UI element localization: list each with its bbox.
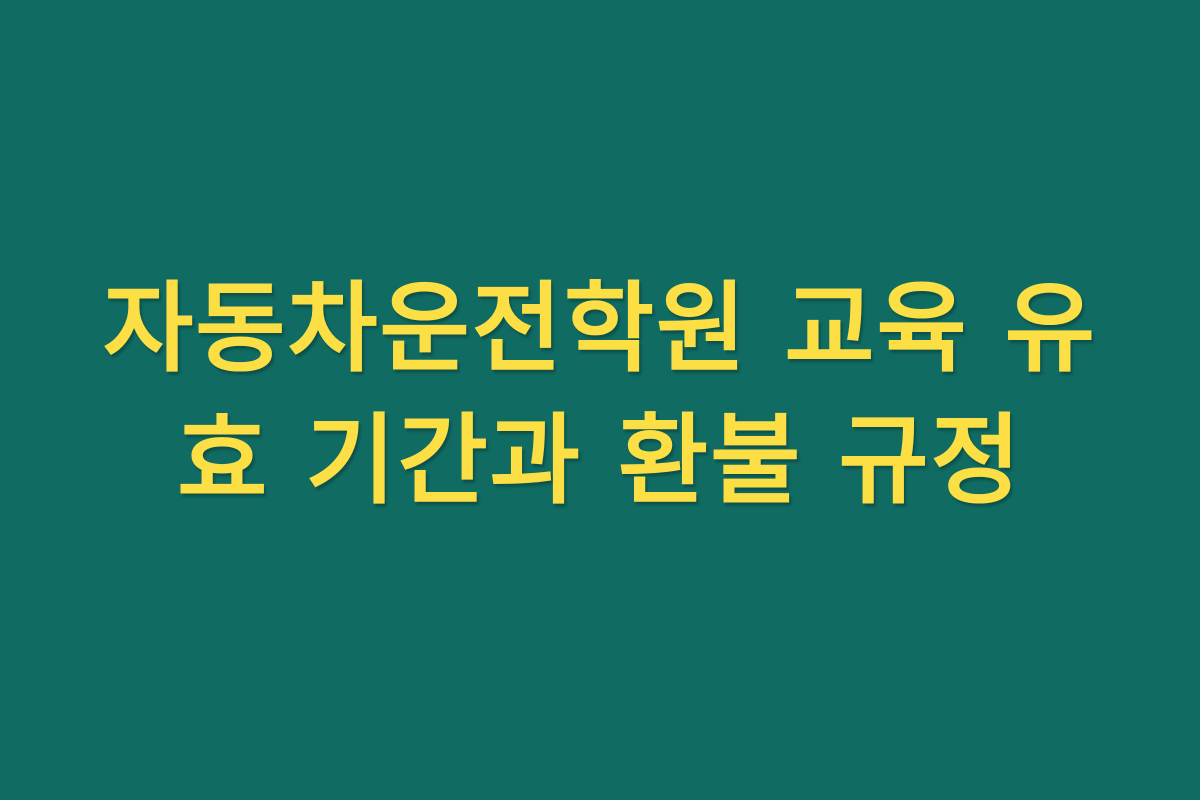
- page-title: 자동차운전학원 교육 유 효 기간과 환불 규정: [70, 263, 1130, 527]
- title-line-1: 자동차운전학원 교육 유: [70, 263, 1130, 395]
- title-line-2: 효 기간과 환불 규정: [70, 395, 1130, 527]
- title-banner: 자동차운전학원 교육 유 효 기간과 환불 규정: [0, 0, 1200, 800]
